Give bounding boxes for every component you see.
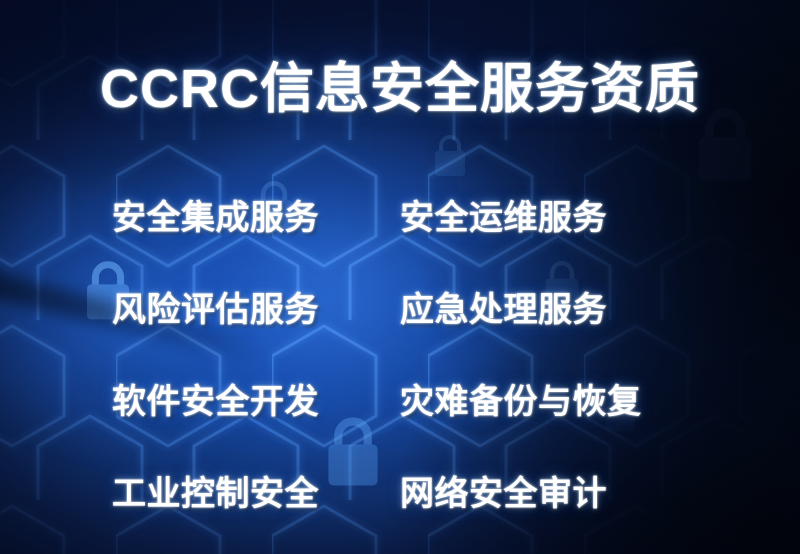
service-list: 安全集成服务 安全运维服务 风险评估服务 应急处理服务 软件安全开发 灾难备份与… [112, 168, 712, 536]
service-item-industrial-control: 工业控制安全 [112, 466, 400, 515]
service-item-risk-assessment: 风险评估服务 [112, 282, 400, 331]
service-item-disaster-recovery: 灾难备份与恢复 [400, 374, 712, 423]
poster-content: CCRC信息安全服务资质 安全集成服务 安全运维服务 风险评估服务 应急处理服务… [0, 0, 800, 554]
service-item-secure-software-dev: 软件安全开发 [112, 374, 400, 423]
service-item-network-security-audit: 网络安全审计 [400, 466, 712, 515]
page-title: CCRC信息安全服务资质 [0, 62, 800, 117]
service-item-security-integration: 安全集成服务 [112, 190, 400, 239]
ccrc-qualification-poster: CCRC信息安全服务资质 安全集成服务 安全运维服务 风险评估服务 应急处理服务… [0, 0, 800, 554]
service-item-security-operations: 安全运维服务 [400, 190, 712, 239]
service-item-emergency-response: 应急处理服务 [400, 282, 712, 331]
